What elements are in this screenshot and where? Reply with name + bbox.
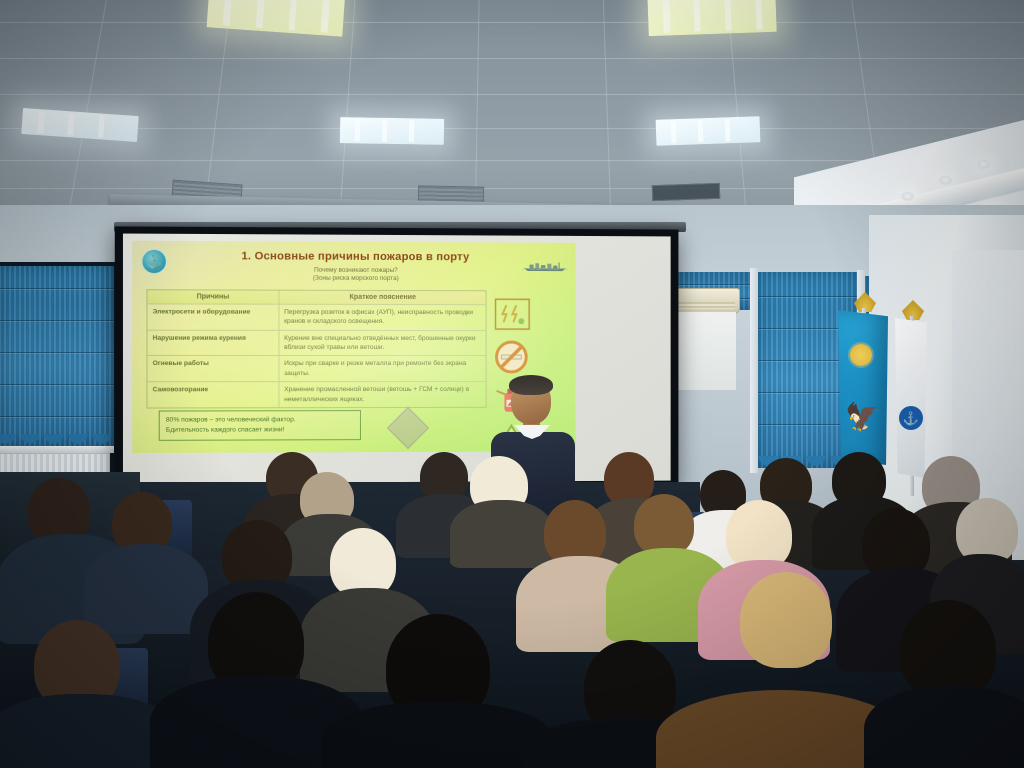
cargo-ship-icon [520, 260, 569, 272]
kazakhstan-sun-icon [850, 344, 872, 366]
table-header-cause: Причины [147, 290, 279, 303]
company-flag-logo-icon: ⚓ [899, 406, 923, 430]
slide-callout-box: 80% пожаров – это человеческий фактор. Б… [159, 410, 361, 441]
slide-title: 1. Основные причины пожаров в порту [191, 250, 518, 263]
slide-subtitle-1: Почему возникают пожары? [191, 266, 518, 274]
table-cell-cause: Огневые работы [147, 356, 279, 381]
slide-port-logo-icon: ⚓ [141, 249, 167, 274]
recessed-downlight [977, 160, 990, 169]
callout-line-2: Бдительность каждого спасает жизни! [166, 425, 354, 436]
window-mullion [750, 268, 758, 473]
audience-head [740, 572, 832, 668]
callout-line-1: 80% пожаров – это человеческий фактор. [166, 415, 354, 425]
table-cell-explanation: Искры при сварке и резке металла при рем… [279, 356, 486, 381]
audience-shoulders [322, 702, 554, 768]
table-row: Огневые работы Искры при сварке и резке … [147, 356, 485, 382]
slide-table: Причины Краткое пояснение Электросети и … [146, 289, 486, 408]
window-sill [0, 446, 114, 453]
recessed-downlight [939, 176, 952, 185]
kazakhstan-flag: 🦅 [838, 310, 888, 465]
projection-surface: ⚓ 1. Основные причины пожаров в порту По… [123, 234, 671, 484]
table-cell-cause: Электросети и оборудование [147, 304, 279, 329]
table-row: Самовозгорание Хранение промасленной вет… [147, 382, 485, 407]
table-cell-explanation: Курение вне специально отведённых мест, … [279, 331, 486, 356]
table-cell-explanation: Перегрузка розеток в офисах (АУП), неисп… [279, 305, 486, 330]
audience-shoulders [450, 500, 554, 568]
window-blind [0, 266, 114, 446]
projection-screen: ⚓ 1. Основные причины пожаров в порту По… [115, 226, 679, 491]
table-header-explanation: Краткое пояснение [279, 291, 486, 305]
recessed-downlight [901, 192, 914, 201]
ceiling-air-vent [652, 183, 721, 201]
electrical-hazard-icon [495, 298, 531, 330]
audience-shoulders [84, 544, 208, 634]
table-row: Нарушение режима курения Курение вне спе… [147, 330, 485, 356]
ceiling-light-panel [647, 0, 776, 36]
no-smoking-icon [495, 340, 529, 374]
slide-decorative-diamond [387, 407, 429, 449]
company-flag: ⚓ [895, 318, 927, 478]
ceiling-light-panel [656, 116, 761, 146]
air-conditioner-unit [672, 288, 740, 314]
audience-shoulders [864, 686, 1024, 768]
table-header-row: Причины Краткое пояснение [147, 290, 485, 305]
wall-panel [674, 312, 736, 390]
ceiling-light-panel [340, 117, 444, 145]
table-cell-cause: Нарушение режима курения [147, 330, 279, 355]
table-row: Электросети и оборудование Перегрузка ро… [147, 304, 485, 330]
audience-head [634, 494, 694, 556]
table-cell-cause: Самовозгорание [147, 382, 279, 407]
table-cell-explanation: Хранение промасленной ветоши (ветошь + Г… [279, 382, 486, 407]
slide-subtitle-2: (Зоны риска морского порта) [191, 274, 518, 282]
audience-head [900, 600, 996, 700]
presenter-hair [509, 375, 553, 395]
kazakhstan-eagle-icon: 🦅 [842, 402, 882, 432]
conference-room-photo: ⚓ 🦅 ⚓ ⚓ 1. Основные причины пожаров в по… [0, 0, 1024, 768]
